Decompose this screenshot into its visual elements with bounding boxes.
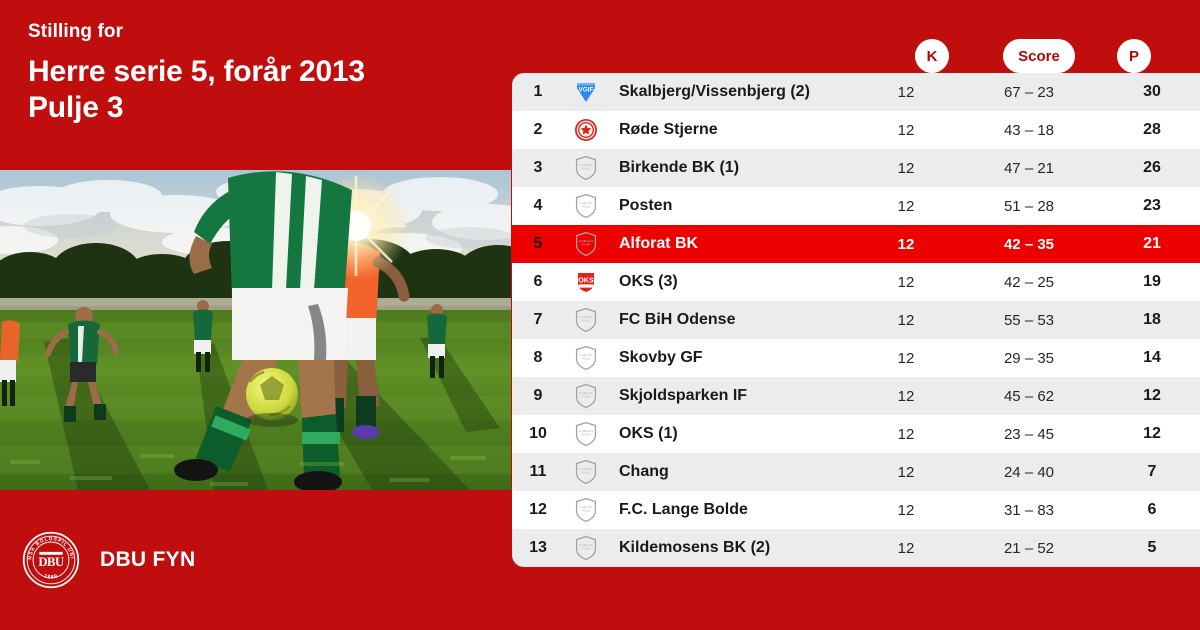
row-score: 42 – 25 [954,274,1104,291]
row-rank: 5 [512,235,564,253]
row-points: 12 [1104,387,1200,405]
football-photo [0,170,511,490]
row-matches: 12 [858,350,954,367]
table-row[interactable]: 10KLUBLOGOPÅ VEJOKS (1)1223 – 4512 [512,415,1200,453]
column-header-score: Score [1003,39,1075,73]
svg-text:KLUBLOGO: KLUBLOGO [579,543,593,547]
row-rank: 10 [512,425,564,443]
column-header-k: K [915,39,949,73]
row-matches: 12 [858,426,954,443]
row-points: 23 [1104,197,1200,215]
row-team: Skalbjerg/Vissenbjerg (2) [608,83,858,101]
row-team: Røde Stjerne [608,121,858,139]
row-rank: 11 [512,463,564,481]
club-badge-icon: KLUBLOGOPÅ VEJ [564,193,608,219]
row-score: 43 – 18 [954,122,1104,139]
table-row[interactable]: 3KLUBLOGOPÅ VEJBirkende BK (1)1247 – 212… [512,149,1200,187]
row-matches: 12 [858,274,954,291]
row-matches: 12 [858,388,954,405]
svg-text:KLUBLOGO: KLUBLOGO [579,429,593,433]
row-rank: 13 [512,539,564,557]
row-points: 26 [1104,159,1200,177]
row-team: F.C. Lange Bolde [608,501,858,519]
table-row[interactable]: 9KLUBLOGOPÅ VEJSkjoldsparken IF1245 – 62… [512,377,1200,415]
headline-block: Stilling for Herre serie 5, forår 2013 P… [0,0,512,170]
row-score: 42 – 35 [954,236,1104,253]
standings-table: 1VGIFSkalbjerg/Vissenbjerg (2)1267 – 233… [512,73,1200,567]
row-matches: 12 [858,502,954,519]
svg-text:KLUBLOGO: KLUBLOGO [579,505,593,509]
row-rank: 12 [512,501,564,519]
club-badge-icon: KLUBLOGOPÅ VEJ [564,535,608,561]
row-team: FC BiH Odense [608,311,858,329]
club-badge-icon: KLUBLOGOPÅ VEJ [564,421,608,447]
table-column-headers: K Score P [512,39,1200,73]
row-points: 19 [1104,273,1200,291]
row-points: 5 [1104,539,1200,557]
row-team: OKS (3) [608,273,858,291]
svg-text:1889: 1889 [43,573,59,580]
column-header-p: P [1117,39,1151,73]
table-row[interactable]: 1VGIFSkalbjerg/Vissenbjerg (2)1267 – 233… [512,73,1200,111]
club-badge-icon: KLUBLOGOPÅ VEJ [564,231,608,257]
table-row[interactable]: 4KLUBLOGOPÅ VEJPosten1251 – 2823 [512,187,1200,225]
svg-text:KLUBLOGO: KLUBLOGO [579,201,593,205]
row-rank: 3 [512,159,564,177]
standings-table-wrap: 1VGIFSkalbjerg/Vissenbjerg (2)1267 – 233… [512,73,1200,567]
row-score: 55 – 53 [954,312,1104,329]
row-score: 67 – 23 [954,84,1104,101]
row-matches: 12 [858,540,954,557]
row-matches: 12 [858,464,954,481]
table-row[interactable]: 8KLUBLOGOPÅ VEJSkovby GF1229 – 3514 [512,339,1200,377]
row-matches: 12 [858,160,954,177]
club-badge-icon: KLUBLOGOPÅ VEJ [564,307,608,333]
club-badge-icon: KLUBLOGOPÅ VEJ [564,383,608,409]
row-rank: 2 [512,121,564,139]
standings-graphic: Stilling for Herre serie 5, forår 2013 P… [0,0,1200,630]
club-badge-icon: KLUBLOGOPÅ VEJ [564,345,608,371]
row-team: Chang [608,463,858,481]
row-score: 51 – 28 [954,198,1104,215]
row-score: 23 – 45 [954,426,1104,443]
row-points: 6 [1104,501,1200,519]
club-badge-icon: KLUBLOGOPÅ VEJ [564,497,608,523]
dbu-logo-icon: DANSK BOLDSPIL UNION 1889 DBU [22,531,80,589]
row-points: 28 [1104,121,1200,139]
row-rank: 9 [512,387,564,405]
table-row[interactable]: 12KLUBLOGOPÅ VEJF.C. Lange Bolde1231 – 8… [512,491,1200,529]
row-matches: 12 [858,312,954,329]
svg-text:KLUBLOGO: KLUBLOGO [579,163,593,167]
svg-text:KLUBLOGO: KLUBLOGO [579,239,593,243]
row-rank: 1 [512,83,564,101]
row-matches: 12 [858,236,954,253]
row-rank: 7 [512,311,564,329]
row-points: 30 [1104,83,1200,101]
club-badge-icon: KLUBLOGOPÅ VEJ [564,459,608,485]
svg-text:KLUBLOGO: KLUBLOGO [579,391,593,395]
row-points: 7 [1104,463,1200,481]
row-score: 31 – 83 [954,502,1104,519]
row-points: 14 [1104,349,1200,367]
table-row[interactable]: 7KLUBLOGOPÅ VEJFC BiH Odense1255 – 5318 [512,301,1200,339]
row-points: 21 [1104,235,1200,253]
row-score: 24 – 40 [954,464,1104,481]
svg-text:KLUBLOGO: KLUBLOGO [579,467,593,471]
row-rank: 8 [512,349,564,367]
table-row[interactable]: 11KLUBLOGOPÅ VEJChang1224 – 407 [512,453,1200,491]
row-team: OKS (1) [608,425,858,443]
row-score: 47 – 21 [954,160,1104,177]
row-team: Skjoldsparken IF [608,387,858,405]
page-title-line2: Pulje 3 [28,90,482,127]
page-title: Herre serie 5, forår 2013 Pulje 3 [28,54,482,127]
svg-text:KLUBLOGO: KLUBLOGO [579,315,593,319]
row-team: Posten [608,197,858,215]
svg-text:DBU: DBU [38,555,64,569]
row-team: Skovby GF [608,349,858,367]
row-team: Kildemosens BK (2) [608,539,858,557]
row-team: Alforat BK [608,235,858,253]
table-row[interactable]: 2Røde Stjerne1243 – 1828 [512,111,1200,149]
club-badge-icon: VGIF [564,80,608,104]
club-badge-icon: OKS [564,270,608,294]
row-rank: 4 [512,197,564,215]
row-team: Birkende BK (1) [608,159,858,177]
svg-text:OKS: OKS [578,275,594,284]
row-points: 18 [1104,311,1200,329]
footer-label: DBU FYN [100,548,195,572]
row-score: 29 – 35 [954,350,1104,367]
row-points: 12 [1104,425,1200,443]
row-rank: 6 [512,273,564,291]
row-matches: 12 [858,84,954,101]
page-title-line1: Herre serie 5, forår 2013 [28,54,482,91]
row-matches: 12 [858,198,954,215]
table-row[interactable]: 5KLUBLOGOPÅ VEJAlforat BK1242 – 3521 [512,225,1200,263]
club-badge-icon: KLUBLOGOPÅ VEJ [564,155,608,181]
row-score: 45 – 62 [954,388,1104,405]
footer-bar: DANSK BOLDSPIL UNION 1889 DBU DBU FYN [0,490,512,630]
row-score: 21 – 52 [954,540,1104,557]
club-badge-icon [564,118,608,142]
svg-text:KLUBLOGO: KLUBLOGO [579,353,593,357]
table-row[interactable]: 6OKSOKS (3)1242 – 2519 [512,263,1200,301]
svg-text:VGIF: VGIF [579,87,594,94]
table-row[interactable]: 13KLUBLOGOPÅ VEJKildemosens BK (2)1221 –… [512,529,1200,567]
kicker-text: Stilling for [28,22,482,43]
row-matches: 12 [858,122,954,139]
